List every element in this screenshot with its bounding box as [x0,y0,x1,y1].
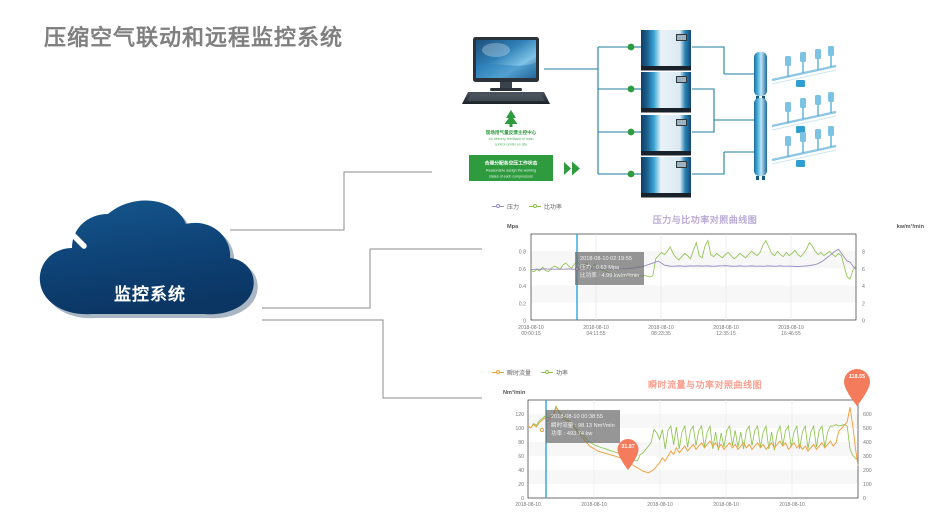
chart2-tooltip-line1: 瞬时流量 : 98.13 Nm³/min [551,422,615,431]
svg-text:400: 400 [863,440,872,446]
arrow-right-icon [564,162,580,176]
svg-text:0.6: 0.6 [519,267,526,273]
magnifier-chart-icon [34,196,92,254]
legend-line-icon [541,370,553,376]
svg-text:80: 80 [518,440,524,446]
svg-text:120: 120 [515,412,524,418]
legend-line-icon [529,204,541,210]
tree-icon [505,110,518,127]
svg-text:16:46:55: 16:46:55 [781,331,801,337]
svg-text:40: 40 [518,468,524,474]
legend-line-icon [492,204,504,210]
svg-text:300: 300 [863,454,872,460]
svg-text:2018-08-10: 2018-08-10 [647,502,673,508]
svg-text:4: 4 [862,284,865,290]
svg-text:8: 8 [862,250,865,256]
chart2-tooltip-time: 2018-08-10 00:38:55 [551,413,615,422]
diagram-nodes [628,44,635,178]
chart2-min-marker-value: 31.87 [615,444,641,450]
svg-text:12:35:15: 12:35:15 [716,331,736,337]
svg-text:0: 0 [523,319,526,325]
chart2-legend-item-power[interactable]: 功率 [541,368,568,377]
svg-text:0: 0 [863,496,866,502]
svg-text:2018-08-10: 2018-08-10 [779,502,805,508]
green-box-en-1: Reasonable assign the working [486,169,536,173]
chart1-tooltip: 2018-08-10 02:19:55 压力 : 0.63 Mpa 比功率 : … [575,252,644,285]
monitoring-system-cloud[interactable]: 监控系统 [34,196,290,332]
svg-text:04:11:55: 04:11:55 [586,331,605,337]
compressed-air-system-diagram: 现场用气量反馈主控中心 Air delivery feedback of mai… [438,22,938,207]
chart1-tooltip-line2: 比功率 : 4.99 kw/m³/min [580,272,639,281]
svg-text:0.2: 0.2 [519,301,526,307]
svg-text:08:23:35: 08:23:35 [651,331,671,337]
chart1-tooltip-time: 2018-08-10 02:19:55 [580,255,639,264]
svg-text:0: 0 [862,319,865,325]
flow-vs-power-chart[interactable]: 瞬时流量 功率 瞬时流量与功率对照曲线图 Nm³/min [484,366,926,529]
svg-text:00:00:15: 00:00:15 [521,331,541,337]
chart2-legend-label-0: 瞬时流量 [507,368,531,377]
svg-text:100: 100 [863,482,872,488]
svg-text:20: 20 [518,482,524,488]
svg-text:60: 60 [518,454,524,460]
chart2-max-marker[interactable]: 118.55 [841,368,873,406]
svg-text:200: 200 [863,468,872,474]
svg-text:2018-08-10: 2018-08-10 [713,502,739,508]
svg-text:0.8: 0.8 [519,250,526,256]
pressure-vs-specific-power-chart[interactable]: 压力 比功率 压力与比功率对照曲线图 Mpa kw/m³/min [484,200,926,337]
diagram-caption-en-1: Air delivery feedback of main [489,137,534,141]
diagram-caption-en-2: control center on site [495,143,528,147]
chart2-legend-item-flow[interactable]: 瞬时流量 [492,368,531,377]
diagram-caption-cn: 现场用气量反馈主控中心 [486,129,537,136]
chart2-legend: 瞬时流量 功率 [492,368,568,377]
chart2-tooltip-line2: 功率 : 493.74 kw [551,430,615,439]
svg-text:6: 6 [862,267,865,273]
chart1-legend-label-1: 比功率 [544,202,562,211]
svg-text:0.4: 0.4 [519,284,526,290]
green-box-cn: 合理分配各空压工作状态 [485,160,538,167]
chart2-tooltip: 2018-08-10 00:38:55 瞬时流量 : 98.13 Nm³/min… [546,410,620,443]
svg-text:2018-08-10: 2018-08-10 [581,502,607,508]
chart1-plot-area: 0 0.2 0.4 0.6 0.8 0 2 4 6 8 [484,230,926,337]
air-compressor-units [641,30,691,198]
desktop-computer-icon [462,37,550,104]
chart1-legend-label-0: 压力 [507,202,519,211]
chart1-legend-item-specific-power[interactable]: 比功率 [529,202,562,211]
svg-text:500: 500 [863,426,872,432]
svg-text:2018-08-10: 2018-08-10 [515,502,541,508]
chart2-max-marker-value: 118.55 [841,374,873,380]
air-tank-and-distribution-group [754,46,836,180]
cloud-label: 监控系统 [34,280,266,305]
svg-text:600: 600 [863,412,872,418]
chart1-title: 压力与比功率对照曲线图 [484,213,926,226]
slide-canvas: 压缩空气联动和远程监控系统 [0,0,945,529]
svg-text:100: 100 [515,426,524,432]
svg-text:2: 2 [862,301,865,307]
green-box-en-2: states of each compressors [489,175,533,179]
chart1-tooltip-line1: 压力 : 0.63 Mpa [580,264,639,273]
green-status-box: 合理分配各空压工作状态 Reasonable assign the workin… [469,155,553,181]
chart1-legend: 压力 比功率 [492,202,562,211]
legend-line-icon [492,370,504,376]
chart2-legend-label-1: 功率 [556,368,568,377]
chart1-legend-item-pressure[interactable]: 压力 [492,202,519,211]
